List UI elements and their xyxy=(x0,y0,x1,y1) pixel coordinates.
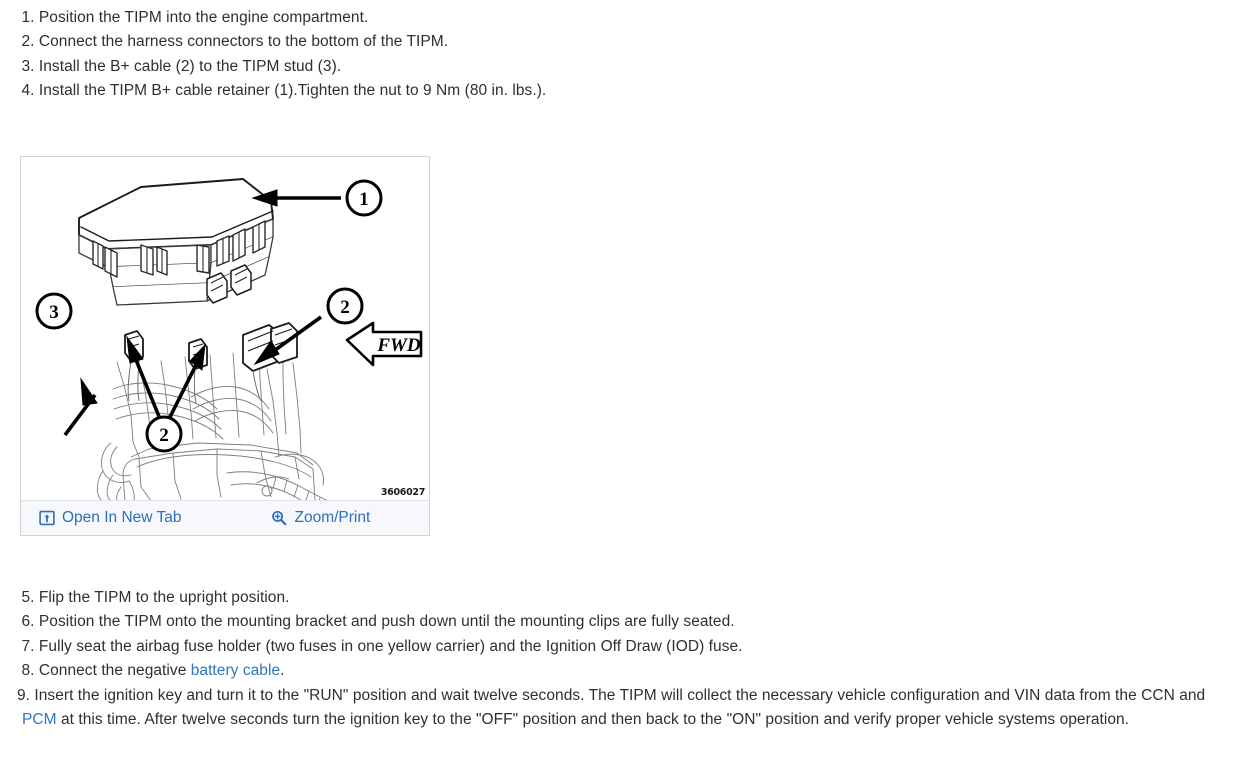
zoom-print-button[interactable]: Zoom/Print xyxy=(271,509,370,527)
step-8-prefix: 8. Connect the negative xyxy=(22,662,191,679)
procedure-steps-bottom: 5. Flip the TIPM to the upright position… xyxy=(0,586,1240,732)
external-link-icon xyxy=(39,510,55,526)
fwd-direction-marker: FWD xyxy=(347,323,421,365)
procedure-steps-top: 1. Position the TIPM into the engine com… xyxy=(0,6,1240,104)
pcm-link[interactable]: PCM xyxy=(22,711,57,728)
document-page: 1. Position the TIPM into the engine com… xyxy=(0,0,1252,773)
svg-text:1: 1 xyxy=(359,189,369,210)
procedure-step: 5. Flip the TIPM to the upright position… xyxy=(0,586,1240,610)
figure-panel: 1 2 2 3 FWD 3606027 xyxy=(20,156,430,536)
battery-cable-link[interactable]: battery cable xyxy=(191,662,280,679)
zoom-print-label: Zoom/Print xyxy=(294,509,370,527)
procedure-step-9: 9. Insert the ignition key and turn it t… xyxy=(0,684,1240,733)
procedure-step: 6. Position the TIPM onto the mounting b… xyxy=(0,610,1240,634)
step-9-prefix: 9. Insert the ignition key and turn it t… xyxy=(17,687,1205,704)
procedure-step: 3. Install the B+ cable (2) to the TIPM … xyxy=(0,55,1240,79)
svg-text:2: 2 xyxy=(340,297,350,318)
procedure-step: 7. Fully seat the airbag fuse holder (tw… xyxy=(0,635,1240,659)
svg-text:2: 2 xyxy=(159,425,169,446)
procedure-step: 4. Install the TIPM B+ cable retainer (1… xyxy=(0,79,1240,103)
tipm-assembly-drawing: 1 2 2 3 FWD xyxy=(21,157,429,500)
figure-id-number: 3606027 xyxy=(381,487,425,498)
procedure-step-8: 8. Connect the negative battery cable. xyxy=(0,659,1240,683)
open-in-new-tab-label: Open In New Tab xyxy=(62,509,181,527)
figure-illustration: 1 2 2 3 FWD 3606027 xyxy=(21,157,429,500)
svg-text:3: 3 xyxy=(49,302,59,323)
procedure-step: 2. Connect the harness connectors to the… xyxy=(0,30,1240,54)
open-in-new-tab-button[interactable]: Open In New Tab xyxy=(39,509,181,527)
figure-toolbar: Open In New Tab Zoom/Print xyxy=(21,500,429,535)
procedure-step: 1. Position the TIPM into the engine com… xyxy=(0,6,1240,30)
step-8-suffix: . xyxy=(280,662,284,679)
svg-text:FWD: FWD xyxy=(376,335,421,356)
magnifier-plus-icon xyxy=(271,510,287,526)
step-9-suffix: at this time. After twelve seconds turn … xyxy=(57,711,1129,728)
